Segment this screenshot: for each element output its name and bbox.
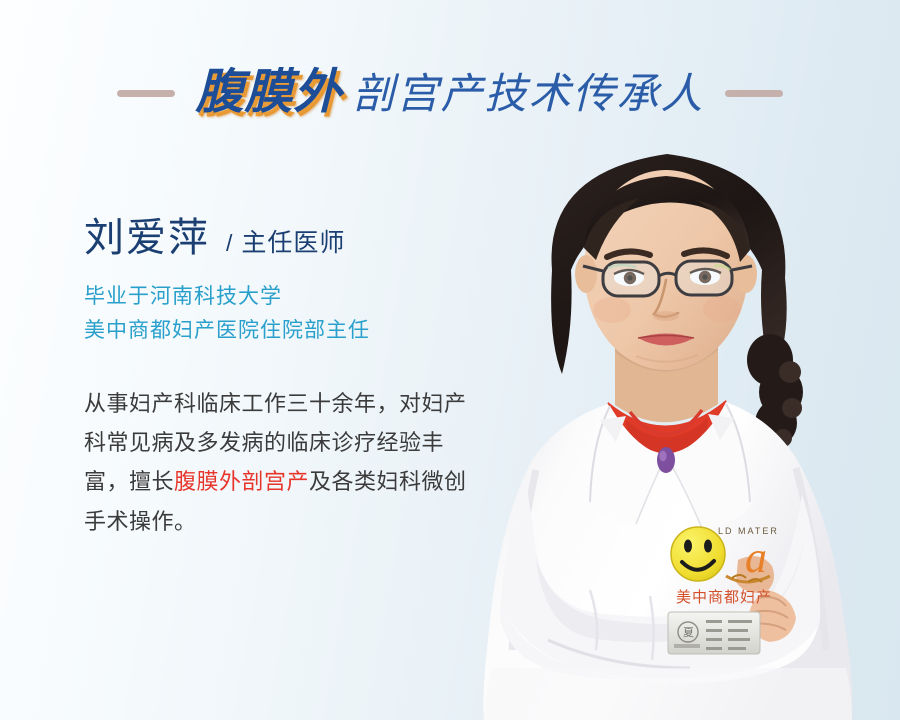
headline-title: 腹膜外 剖宫产技术传承人 [195,69,704,117]
svg-text:LD MATER: LD MATER [718,526,779,536]
headline-emphasis: 腹膜外 [195,69,342,117]
doctor-bio: 从事妇产科临床工作三十余年，对妇产科常见病及多发病的临床诊疗经验丰富，擅长腹膜外… [84,384,484,541]
headline-left-rule-icon [117,90,175,97]
doctor-rank: 主任医师 [241,223,345,259]
staff-id-card: 夏 [668,612,760,654]
svg-text:夏: 夏 [683,626,694,639]
doctor-photo: a LD MATER 美中商都妇产 夏 [440,120,900,720]
name-rank-separator: / [226,230,232,257]
svg-text:美中商都妇产: 美中商都妇产 [676,589,772,606]
doctor-portrait-illustration: a LD MATER 美中商都妇产 夏 [440,120,900,720]
headline: 腹膜外 剖宫产技术传承人 [0,62,900,124]
headline-right-rule-icon [725,90,783,97]
svg-text:a: a [745,533,767,582]
doctor-profile-banner: 腹膜外 剖宫产技术传承人 刘爱萍 / 主任医师 毕业于河南科技大学 美中商都妇产… [0,0,900,720]
bio-highlight: 腹膜外剖宫产 [174,469,309,494]
headline-rest: 剖宫产技术传承人 [353,73,705,115]
doctor-name: 刘爱萍 [84,216,210,260]
